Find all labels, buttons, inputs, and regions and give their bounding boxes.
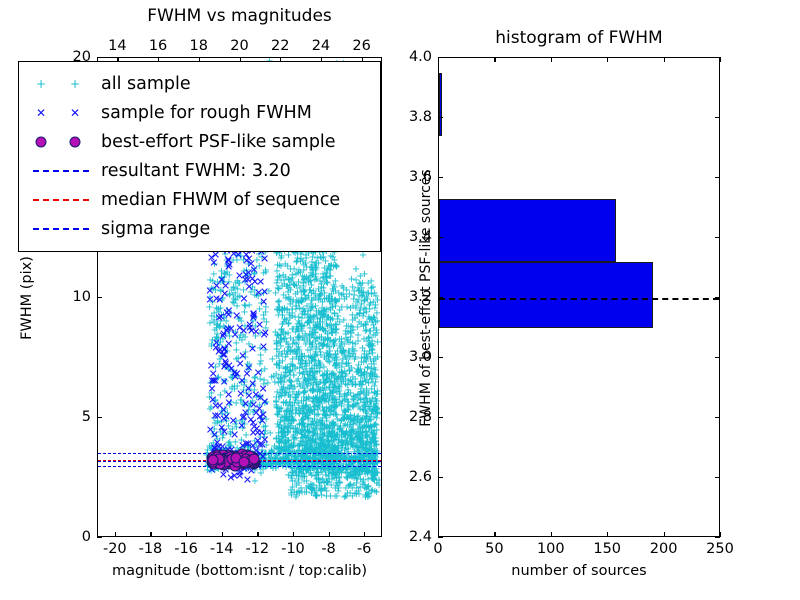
data-point-all-sample: + xyxy=(219,278,227,288)
data-point-all-sample: + xyxy=(287,276,295,286)
data-point-all-sample: + xyxy=(321,411,329,421)
data-point-all-sample: + xyxy=(321,410,329,420)
data-point-all-sample: + xyxy=(224,323,232,333)
data-point-all-sample: + xyxy=(316,314,324,324)
data-point-rough-sample: ✕ xyxy=(244,390,253,401)
data-point-all-sample: + xyxy=(268,446,276,456)
data-point-all-sample: + xyxy=(277,276,285,286)
data-point-all-sample: + xyxy=(296,284,304,294)
data-point-all-sample: + xyxy=(354,287,362,297)
data-point-all-sample: + xyxy=(359,406,367,416)
legend-item-label: best-effort PSF-like sample xyxy=(101,132,336,152)
data-point-all-sample: + xyxy=(351,489,359,499)
data-point-all-sample: + xyxy=(355,428,363,438)
data-point-all-sample: + xyxy=(251,373,259,383)
data-point-all-sample: + xyxy=(301,311,309,321)
legend-item: median FHWM of sequence xyxy=(27,185,372,214)
data-point-rough-sample: ✕ xyxy=(205,294,214,305)
data-point-all-sample: + xyxy=(224,365,232,375)
data-point-all-sample: + xyxy=(238,336,246,346)
data-point-all-sample: + xyxy=(308,271,316,281)
data-point-all-sample: + xyxy=(363,295,371,305)
data-point-all-sample: + xyxy=(365,446,373,456)
data-point-all-sample: + xyxy=(352,302,360,312)
data-point-all-sample: + xyxy=(351,375,359,385)
axis-tick xyxy=(97,417,102,418)
data-point-all-sample: + xyxy=(335,387,343,397)
data-point-all-sample: + xyxy=(221,363,229,373)
data-point-all-sample: + xyxy=(314,471,322,481)
data-point-all-sample: + xyxy=(320,446,328,456)
data-point-all-sample: + xyxy=(352,433,360,443)
data-point-all-sample: + xyxy=(328,402,336,412)
data-point-all-sample: + xyxy=(223,256,231,266)
data-point-all-sample: + xyxy=(355,286,363,296)
data-point-all-sample: + xyxy=(362,412,370,422)
data-point-all-sample: + xyxy=(314,410,322,420)
data-point-all-sample: + xyxy=(346,366,354,376)
data-point-all-sample: + xyxy=(310,261,318,271)
data-point-all-sample: + xyxy=(298,272,306,282)
data-point-all-sample: + xyxy=(313,432,321,442)
data-point-all-sample: + xyxy=(304,466,312,476)
data-point-all-sample: + xyxy=(326,403,334,413)
data-point-all-sample: + xyxy=(227,373,235,383)
data-point-all-sample: + xyxy=(295,404,303,414)
data-point-all-sample: + xyxy=(320,478,328,488)
data-point-all-sample: + xyxy=(275,393,283,403)
data-point-rough-sample: ✕ xyxy=(227,364,236,375)
data-point-rough-sample: ✕ xyxy=(249,427,258,438)
data-point-all-sample: + xyxy=(326,351,334,361)
data-point-all-sample: + xyxy=(329,383,337,393)
data-point-all-sample: + xyxy=(352,380,360,390)
data-point-all-sample: + xyxy=(350,287,358,297)
data-point-all-sample: + xyxy=(315,309,323,319)
data-point-all-sample: + xyxy=(277,429,285,439)
data-point-all-sample: + xyxy=(300,426,308,436)
data-point-all-sample: + xyxy=(323,436,331,446)
data-point-all-sample: + xyxy=(273,331,281,341)
data-point-all-sample: + xyxy=(348,283,356,293)
data-point-all-sample: + xyxy=(367,438,375,448)
data-point-rough-sample: ✕ xyxy=(220,426,229,437)
data-point-all-sample: + xyxy=(328,369,336,379)
data-point-all-sample: + xyxy=(333,482,341,492)
left-xtick-label: -8 xyxy=(321,541,335,557)
data-point-all-sample: + xyxy=(350,396,358,406)
data-point-all-sample: + xyxy=(293,325,301,335)
data-point-all-sample: + xyxy=(324,294,332,304)
data-point-all-sample: + xyxy=(338,437,346,447)
data-point-all-sample: + xyxy=(302,357,310,367)
data-point-all-sample: + xyxy=(320,465,328,475)
data-point-all-sample: + xyxy=(361,378,369,388)
data-point-all-sample: + xyxy=(341,375,349,385)
data-point-all-sample: + xyxy=(288,413,296,423)
data-point-all-sample: + xyxy=(342,468,350,478)
data-point-all-sample: + xyxy=(350,417,358,427)
data-point-all-sample: + xyxy=(371,406,379,416)
data-point-all-sample: + xyxy=(321,378,329,388)
data-point-all-sample: + xyxy=(325,383,333,393)
data-point-all-sample: + xyxy=(316,421,324,431)
data-point-all-sample: + xyxy=(257,469,265,479)
data-point-all-sample: + xyxy=(240,308,248,318)
data-point-all-sample: + xyxy=(312,378,320,388)
data-point-all-sample: + xyxy=(239,400,247,410)
data-point-all-sample: + xyxy=(361,320,369,330)
data-point-all-sample: + xyxy=(311,352,319,362)
data-point-all-sample: + xyxy=(347,438,355,448)
data-point-all-sample: + xyxy=(288,417,296,427)
data-point-all-sample: + xyxy=(332,474,340,484)
data-point-all-sample: + xyxy=(226,365,234,375)
data-point-all-sample: + xyxy=(277,392,285,402)
data-point-all-sample: + xyxy=(281,425,289,435)
data-point-all-sample: + xyxy=(286,367,294,377)
data-point-all-sample: + xyxy=(316,290,324,300)
data-point-all-sample: + xyxy=(305,429,313,439)
data-point-all-sample: + xyxy=(307,281,315,291)
data-point-all-sample: + xyxy=(367,439,375,449)
data-point-all-sample: + xyxy=(296,268,304,278)
data-point-all-sample: + xyxy=(251,291,259,301)
data-point-all-sample: + xyxy=(368,375,376,385)
data-point-all-sample: + xyxy=(311,406,319,416)
data-point-all-sample: + xyxy=(345,431,353,441)
data-point-rough-sample: ✕ xyxy=(259,409,268,420)
data-point-all-sample: + xyxy=(312,345,320,355)
data-point-all-sample: + xyxy=(345,362,353,372)
data-point-all-sample: + xyxy=(372,326,380,336)
data-point-rough-sample: ✕ xyxy=(244,253,253,264)
data-point-all-sample: + xyxy=(292,481,300,491)
data-point-all-sample: + xyxy=(316,439,324,449)
data-point-all-sample: + xyxy=(312,362,320,372)
data-point-all-sample: + xyxy=(213,374,221,384)
data-point-all-sample: + xyxy=(295,317,303,327)
data-point-all-sample: + xyxy=(316,430,324,440)
data-point-all-sample: + xyxy=(278,433,286,443)
data-point-all-sample: + xyxy=(231,438,239,448)
data-point-all-sample: + xyxy=(307,420,315,430)
data-point-all-sample: + xyxy=(272,403,280,413)
data-point-all-sample: + xyxy=(326,383,334,393)
data-point-all-sample: + xyxy=(347,425,355,435)
data-point-all-sample: + xyxy=(346,438,354,448)
data-point-all-sample: + xyxy=(214,305,222,315)
data-point-all-sample: + xyxy=(309,431,317,441)
data-point-all-sample: + xyxy=(298,409,306,419)
data-point-all-sample: + xyxy=(354,463,362,473)
data-point-all-sample: + xyxy=(247,288,255,298)
data-point-all-sample: + xyxy=(355,419,363,429)
data-point-all-sample: + xyxy=(290,417,298,427)
data-point-all-sample: + xyxy=(307,489,315,499)
data-point-all-sample: + xyxy=(319,441,327,451)
data-point-all-sample: + xyxy=(216,287,224,297)
data-point-all-sample: + xyxy=(334,450,342,460)
data-point-all-sample: + xyxy=(206,293,214,303)
data-point-all-sample: + xyxy=(332,321,340,331)
data-point-all-sample: + xyxy=(355,470,363,480)
data-point-all-sample: + xyxy=(300,402,308,412)
data-point-all-sample: + xyxy=(343,474,351,484)
data-point-all-sample: + xyxy=(356,425,364,435)
data-point-rough-sample: ✕ xyxy=(211,343,220,354)
data-point-all-sample: + xyxy=(361,407,369,417)
data-point-all-sample: + xyxy=(314,307,322,317)
data-point-all-sample: + xyxy=(345,290,353,300)
data-point-all-sample: + xyxy=(349,392,357,402)
data-point-all-sample: + xyxy=(330,420,338,430)
data-point-all-sample: + xyxy=(359,450,367,460)
data-point-all-sample: + xyxy=(338,359,346,369)
data-point-all-sample: + xyxy=(297,469,305,479)
data-point-all-sample: + xyxy=(304,433,312,443)
data-point-all-sample: + xyxy=(283,305,291,315)
data-point-all-sample: + xyxy=(219,294,227,304)
data-point-all-sample: + xyxy=(272,289,280,299)
data-point-all-sample: + xyxy=(314,320,322,330)
data-point-all-sample: + xyxy=(276,378,284,388)
data-point-all-sample: + xyxy=(281,273,289,283)
data-point-all-sample: + xyxy=(209,277,217,287)
data-point-all-sample: + xyxy=(229,256,237,266)
data-point-all-sample: + xyxy=(359,439,367,449)
data-point-rough-sample: ✕ xyxy=(207,376,216,387)
data-point-all-sample: + xyxy=(307,304,315,314)
data-point-all-sample: + xyxy=(281,388,289,398)
data-point-all-sample: + xyxy=(319,439,327,449)
data-point-all-sample: + xyxy=(291,424,299,434)
data-point-all-sample: + xyxy=(340,439,348,449)
data-point-all-sample: + xyxy=(332,446,340,456)
data-point-all-sample: + xyxy=(372,488,380,498)
axis-tick xyxy=(607,532,608,537)
data-point-all-sample: + xyxy=(312,475,320,485)
data-point-all-sample: + xyxy=(279,425,287,435)
data-point-all-sample: + xyxy=(338,369,346,379)
data-point-all-sample: + xyxy=(346,489,354,499)
data-point-rough-sample: ✕ xyxy=(256,277,265,288)
data-point-all-sample: + xyxy=(302,273,310,283)
data-point-rough-sample: ✕ xyxy=(260,396,269,407)
data-point-all-sample: + xyxy=(217,278,225,288)
data-point-all-sample: + xyxy=(344,386,352,396)
data-point-all-sample: + xyxy=(286,391,294,401)
data-point-rough-sample: ✕ xyxy=(244,439,253,450)
data-point-rough-sample: ✕ xyxy=(249,418,258,429)
axis-tick xyxy=(720,57,721,62)
data-point-all-sample: + xyxy=(368,337,376,347)
data-point-all-sample: + xyxy=(372,390,380,400)
data-point-all-sample: + xyxy=(334,487,342,497)
data-point-all-sample: + xyxy=(282,416,290,426)
data-point-rough-sample: ✕ xyxy=(211,411,220,422)
data-point-all-sample: + xyxy=(332,325,340,335)
data-point-all-sample: + xyxy=(293,254,301,264)
data-point-all-sample: + xyxy=(280,328,288,338)
data-point-all-sample: + xyxy=(349,380,357,390)
data-point-all-sample: + xyxy=(356,306,364,316)
data-point-all-sample: + xyxy=(314,285,322,295)
data-point-all-sample: + xyxy=(240,267,248,277)
data-point-all-sample: + xyxy=(299,368,307,378)
data-point-all-sample: + xyxy=(355,310,363,320)
data-point-all-sample: + xyxy=(370,421,378,431)
data-point-all-sample: + xyxy=(244,260,252,270)
data-point-all-sample: + xyxy=(274,429,282,439)
data-point-all-sample: + xyxy=(368,435,376,445)
data-point-all-sample: + xyxy=(356,438,364,448)
data-point-all-sample: + xyxy=(310,373,318,383)
left-top-xtick-label: 24 xyxy=(312,38,330,54)
data-point-all-sample: + xyxy=(231,385,239,395)
data-point-all-sample: + xyxy=(356,292,364,302)
data-point-all-sample: + xyxy=(281,442,289,452)
data-point-all-sample: + xyxy=(308,420,316,430)
data-point-all-sample: + xyxy=(306,469,314,479)
axis-tick xyxy=(364,532,365,537)
data-point-all-sample: + xyxy=(347,275,355,285)
data-point-all-sample: + xyxy=(369,298,377,308)
data-point-all-sample: + xyxy=(364,341,372,351)
data-point-all-sample: + xyxy=(345,347,353,357)
data-point-all-sample: + xyxy=(372,440,380,450)
data-point-all-sample: + xyxy=(295,369,303,379)
data-point-all-sample: + xyxy=(312,264,320,274)
data-point-all-sample: + xyxy=(293,429,301,439)
data-point-all-sample: + xyxy=(307,441,315,451)
data-point-all-sample: + xyxy=(325,438,333,448)
data-point-all-sample: + xyxy=(313,424,321,434)
data-point-all-sample: + xyxy=(327,290,335,300)
data-point-all-sample: + xyxy=(212,324,220,334)
data-point-all-sample: + xyxy=(262,303,270,313)
data-point-all-sample: + xyxy=(327,432,335,442)
data-point-all-sample: + xyxy=(334,373,342,383)
data-point-all-sample: + xyxy=(318,342,326,352)
data-point-all-sample: + xyxy=(307,439,315,449)
left-xtick-label: -12 xyxy=(245,541,269,557)
data-point-all-sample: + xyxy=(221,387,229,397)
data-point-all-sample: + xyxy=(218,410,226,420)
data-point-all-sample: + xyxy=(321,327,329,337)
data-point-all-sample: + xyxy=(326,378,334,388)
data-point-all-sample: + xyxy=(289,371,297,381)
data-point-all-sample: + xyxy=(279,328,287,338)
data-point-rough-sample: ✕ xyxy=(224,339,233,350)
data-point-rough-sample: ✕ xyxy=(226,324,235,335)
data-point-all-sample: + xyxy=(299,415,307,425)
data-point-all-sample: + xyxy=(342,437,350,447)
data-point-all-sample: + xyxy=(313,322,321,332)
data-point-all-sample: + xyxy=(274,284,282,294)
data-point-all-sample: + xyxy=(352,429,360,439)
data-point-all-sample: + xyxy=(370,438,378,448)
data-point-all-sample: + xyxy=(231,328,239,338)
data-point-rough-sample: ✕ xyxy=(219,414,228,425)
data-point-all-sample: + xyxy=(298,294,306,304)
data-point-all-sample: + xyxy=(329,465,337,475)
data-point-all-sample: + xyxy=(365,372,373,382)
data-point-all-sample: + xyxy=(308,303,316,313)
data-point-all-sample: + xyxy=(293,288,301,298)
data-point-all-sample: + xyxy=(225,327,233,337)
data-point-all-sample: + xyxy=(289,425,297,435)
data-point-all-sample: + xyxy=(332,372,340,382)
data-point-all-sample: + xyxy=(360,465,368,475)
data-point-all-sample: + xyxy=(353,432,361,442)
data-point-all-sample: + xyxy=(343,381,351,391)
data-point-all-sample: + xyxy=(342,327,350,337)
data-point-all-sample: + xyxy=(256,433,264,443)
data-point-all-sample: + xyxy=(367,410,375,420)
data-point-all-sample: + xyxy=(363,337,371,347)
data-point-all-sample: + xyxy=(330,436,338,446)
data-point-all-sample: + xyxy=(294,325,302,335)
data-point-all-sample: + xyxy=(311,290,319,300)
data-point-all-sample: + xyxy=(319,407,327,417)
data-point-all-sample: + xyxy=(295,346,303,356)
data-point-all-sample: + xyxy=(324,398,332,408)
data-point-all-sample: + xyxy=(289,385,297,395)
data-point-all-sample: + xyxy=(325,424,333,434)
data-point-rough-sample: ✕ xyxy=(237,375,246,386)
data-point-all-sample: + xyxy=(346,352,354,362)
data-point-all-sample: + xyxy=(327,370,335,380)
data-point-all-sample: + xyxy=(273,339,281,349)
data-point-all-sample: + xyxy=(375,476,381,486)
legend-item: ✕✕sample for rough FWHM xyxy=(27,98,372,127)
data-point-all-sample: + xyxy=(293,296,301,306)
data-point-all-sample: + xyxy=(360,422,368,432)
data-point-all-sample: + xyxy=(342,439,350,449)
data-point-rough-sample: ✕ xyxy=(237,421,246,432)
data-point-all-sample: + xyxy=(289,441,297,451)
data-point-all-sample: + xyxy=(273,331,281,341)
data-point-all-sample: + xyxy=(343,450,351,460)
data-point-all-sample: + xyxy=(228,383,236,393)
data-point-all-sample: + xyxy=(351,314,359,324)
data-point-all-sample: + xyxy=(348,323,356,333)
data-point-all-sample: + xyxy=(354,331,362,341)
data-point-all-sample: + xyxy=(232,279,240,289)
data-point-all-sample: + xyxy=(299,389,307,399)
axis-tick xyxy=(293,532,294,537)
data-point-all-sample: + xyxy=(212,333,220,343)
data-point-all-sample: + xyxy=(217,286,225,296)
data-point-all-sample: + xyxy=(299,410,307,420)
data-point-all-sample: + xyxy=(316,440,324,450)
data-point-all-sample: + xyxy=(228,286,236,296)
data-point-all-sample: + xyxy=(283,282,291,292)
data-point-all-sample: + xyxy=(320,411,328,421)
data-point-all-sample: + xyxy=(292,350,300,360)
data-point-all-sample: + xyxy=(355,490,363,500)
data-point-all-sample: + xyxy=(206,379,214,389)
data-point-rough-sample: ✕ xyxy=(243,475,252,486)
data-point-rough-sample: ✕ xyxy=(241,407,250,418)
data-point-all-sample: + xyxy=(296,257,304,267)
data-point-all-sample: + xyxy=(289,348,297,358)
data-point-all-sample: + xyxy=(357,437,365,447)
data-point-all-sample: + xyxy=(219,431,227,441)
data-point-all-sample: + xyxy=(312,424,320,434)
data-point-all-sample: + xyxy=(232,355,240,365)
